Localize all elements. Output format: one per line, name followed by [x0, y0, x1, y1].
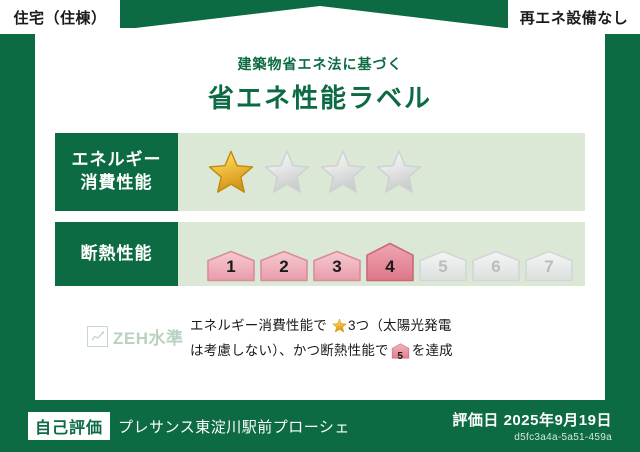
star-icon-4: [376, 149, 422, 195]
energy-performance-label: 住宅（住棟） 再エネ設備なし 建築物省エネ法に基づく 省エネ性能ラベル エネルギ…: [0, 0, 640, 452]
zeh-desc-part2: は考慮しない）、かつ断熱性能で: [190, 343, 389, 358]
energy-label-line2: 消費性能: [81, 172, 153, 195]
inline-level-chip-num: 5: [391, 349, 410, 366]
insulation-level-6: 6: [471, 250, 521, 282]
star-rating: [178, 133, 585, 211]
energy-performance-row: エネルギー 消費性能: [55, 133, 585, 211]
renewable-equipment-tab: 再エネ設備なし: [508, 0, 640, 34]
renewable-equipment-tab-label: 再エネ設備なし: [520, 7, 629, 28]
insulation-level-2: 2: [259, 250, 309, 282]
building-name: プレサンス東淀川駅前プローシェ: [118, 416, 350, 437]
house-type-tab: 住宅（住棟）: [0, 0, 120, 34]
chart-line-icon-svg: [91, 331, 104, 342]
inline-star-icon: [328, 321, 347, 336]
insulation-level-3: 3: [312, 250, 362, 282]
insulation-level-7: 7: [524, 250, 574, 282]
energy-performance-label: エネルギー 消費性能: [55, 133, 178, 211]
insulation-level-4: 4: [365, 242, 415, 282]
insulation-level-1: 1: [206, 250, 256, 282]
self-evaluation-badge: 自己評価: [28, 412, 110, 440]
title-subtitle: 建築物省エネ法に基づく: [0, 54, 640, 74]
zeh-desc-part1: エネルギー消費性能で: [190, 318, 327, 333]
page-title: 省エネ性能ラベル: [0, 78, 640, 115]
zeh-standard-block: ZEH水準 エネルギー消費性能で 3つ（太陽光発電 は考慮しない）、かつ断熱性能…: [55, 315, 585, 367]
zeh-desc-star-count: 3つ（太陽光発電: [348, 318, 452, 333]
insulation-performance-row: 断熱性能 1234567: [55, 222, 585, 286]
zeh-badge-label: ZEH水準: [113, 324, 184, 349]
insulation-label-line1: 断熱性能: [81, 243, 153, 266]
insulation-performance-label: 断熱性能: [55, 222, 178, 286]
house-type-tab-label: 住宅（住棟）: [13, 7, 106, 28]
evaluation-date: 評価日 2025年9月19日: [452, 409, 612, 430]
energy-label-line1: エネルギー: [72, 149, 162, 172]
star-icon-1: [208, 149, 254, 195]
evaluation-meta: 評価日 2025年9月19日 d5fc3a4a-5a51-459a: [452, 409, 612, 443]
evaluation-id: d5fc3a4a-5a51-459a: [452, 432, 612, 443]
star-icon-2: [264, 149, 310, 195]
zeh-description: エネルギー消費性能で 3つ（太陽光発電 は考慮しない）、かつ断熱性能で: [190, 315, 585, 367]
chart-line-icon: [87, 326, 108, 347]
zeh-badge: ZEH水準: [55, 315, 190, 349]
title-block: 建築物省エネ法に基づく 省エネ性能ラベル: [0, 54, 640, 115]
star-icon-3: [320, 149, 366, 195]
insulation-level-scale: 1234567: [178, 222, 585, 286]
insulation-level-5: 5: [418, 250, 468, 282]
inline-level-chip: 5: [391, 343, 410, 366]
footer: 自己評価 プレサンス東淀川駅前プローシェ 評価日 2025年9月19日 d5fc…: [0, 400, 640, 452]
zeh-desc-part3: を達成: [412, 343, 453, 358]
